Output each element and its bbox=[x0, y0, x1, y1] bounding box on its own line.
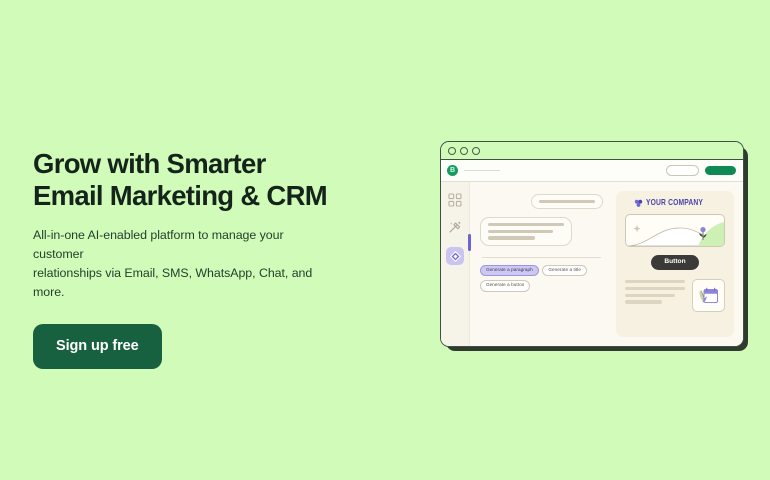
preview-brand-header: YOUR COMPANY bbox=[625, 199, 725, 208]
toolbar-primary-button[interactable] bbox=[705, 166, 736, 175]
calendar-plant-icon bbox=[693, 280, 724, 311]
skeleton-line bbox=[488, 236, 535, 239]
skeleton-line bbox=[625, 300, 662, 303]
diamond-icon bbox=[450, 251, 461, 262]
product-screenshot-mockup: B bbox=[440, 141, 742, 345]
grid-icon bbox=[448, 193, 462, 207]
magic-wand-icon bbox=[448, 220, 462, 234]
skeleton-line bbox=[625, 287, 685, 290]
suggestion-chip-list: Generate a paragraph Generate a title Ge… bbox=[480, 265, 603, 292]
preview-brand-name: YOUR COMPANY bbox=[646, 199, 703, 207]
page-title: Grow with Smarter Email Marketing & CRM bbox=[33, 148, 373, 212]
preview-cta-button[interactable]: Button bbox=[651, 255, 698, 270]
app-body: Generate a paragraph Generate a title Ge… bbox=[441, 182, 743, 346]
sidebar-item-grid[interactable] bbox=[448, 193, 462, 207]
clover-dots-icon bbox=[634, 199, 643, 208]
app-sidebar bbox=[441, 182, 470, 346]
sign-up-free-button[interactable]: Sign up free bbox=[33, 324, 162, 369]
preview-body-text bbox=[625, 279, 685, 307]
hero-section: Grow with Smarter Email Marketing & CRM … bbox=[33, 148, 373, 369]
app-toolbar: B bbox=[441, 160, 743, 182]
toolbar-placeholder-line bbox=[464, 170, 500, 172]
preview-body-row bbox=[625, 279, 725, 312]
chat-panel: Generate a paragraph Generate a title Ge… bbox=[470, 182, 612, 346]
sidebar-item-magic-wand[interactable] bbox=[448, 220, 462, 234]
chip-generate-a-paragraph[interactable]: Generate a paragraph bbox=[480, 265, 539, 277]
sidebar-active-indicator bbox=[468, 234, 471, 251]
sidebar-item-ai-assistant[interactable] bbox=[446, 247, 464, 265]
skeleton-line bbox=[625, 280, 685, 283]
chip-generate-a-button[interactable]: Generate a button bbox=[480, 280, 530, 292]
window-dot-zoom-icon[interactable] bbox=[472, 147, 480, 155]
browser-titlebar bbox=[441, 142, 743, 160]
chip-generate-a-title[interactable]: Generate a title bbox=[542, 265, 587, 277]
page-root: Grow with Smarter Email Marketing & CRM … bbox=[0, 0, 770, 480]
skeleton-line bbox=[488, 230, 553, 233]
window-dot-minimize-icon[interactable] bbox=[460, 147, 468, 155]
skeleton-line bbox=[539, 200, 595, 203]
preview-hero-image bbox=[625, 214, 725, 247]
preview-thumbnail bbox=[692, 279, 725, 312]
skeleton-line bbox=[488, 223, 564, 226]
brand-avatar[interactable]: B bbox=[447, 165, 458, 176]
hero-subtitle: All-in-one AI-enabled platform to manage… bbox=[33, 226, 319, 301]
window-dot-close-icon[interactable] bbox=[448, 147, 456, 155]
toolbar-secondary-button[interactable] bbox=[666, 165, 699, 176]
landscape-illustration-icon bbox=[626, 215, 724, 246]
browser-window: B bbox=[440, 141, 744, 347]
chat-bubble-incoming bbox=[480, 217, 572, 245]
chat-divider bbox=[482, 257, 601, 258]
chat-bubble-outgoing bbox=[531, 194, 603, 209]
email-preview-panel: YOUR COMPANY Button bbox=[616, 191, 734, 337]
skeleton-line bbox=[625, 294, 675, 297]
